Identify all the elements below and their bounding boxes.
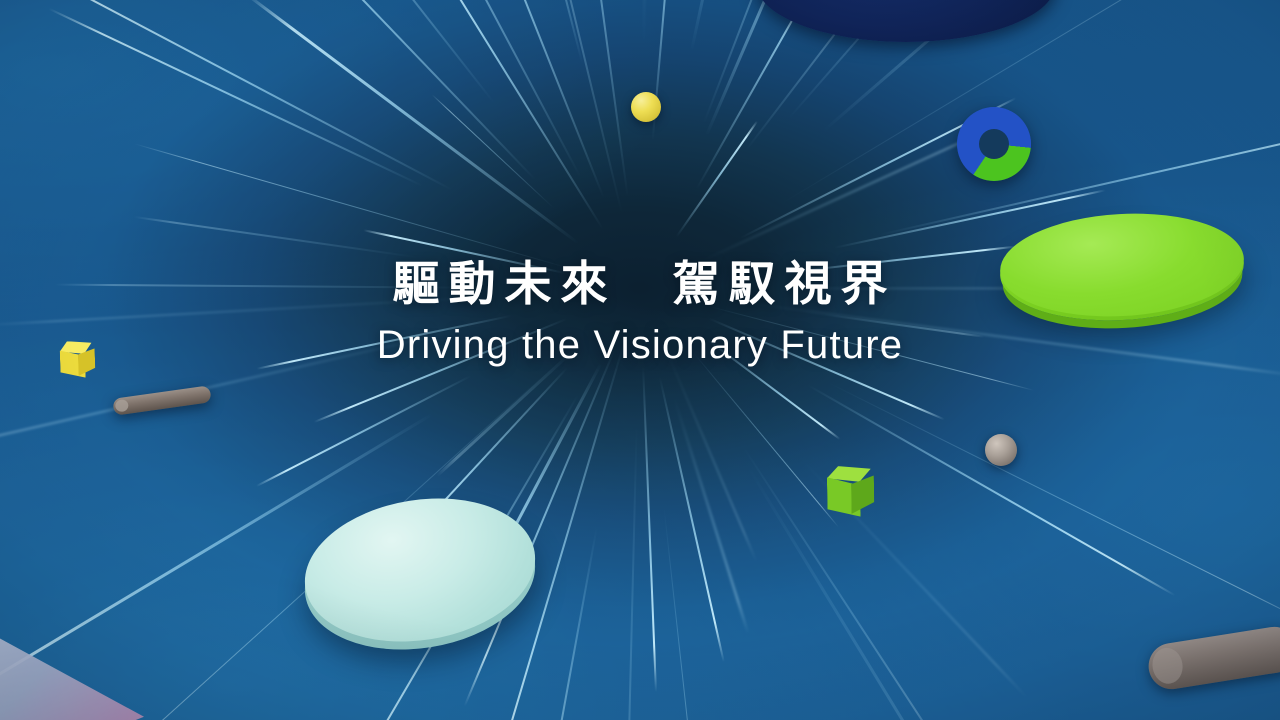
page-title-chinese: 驅動未來 駕馭視界 (0, 258, 1280, 311)
title-card-stage: 驅動未來 駕馭視界 Driving the Visionary Future (0, 0, 1280, 720)
yellow-sphere (631, 92, 661, 122)
donut-ring-icon (957, 107, 1031, 181)
title-block: 驅動未來 駕馭視界 Driving the Visionary Future (0, 258, 1280, 367)
stone-sphere (985, 434, 1017, 466)
page-title-english: Driving the Visionary Future (0, 323, 1280, 367)
green-cube (824, 466, 861, 503)
